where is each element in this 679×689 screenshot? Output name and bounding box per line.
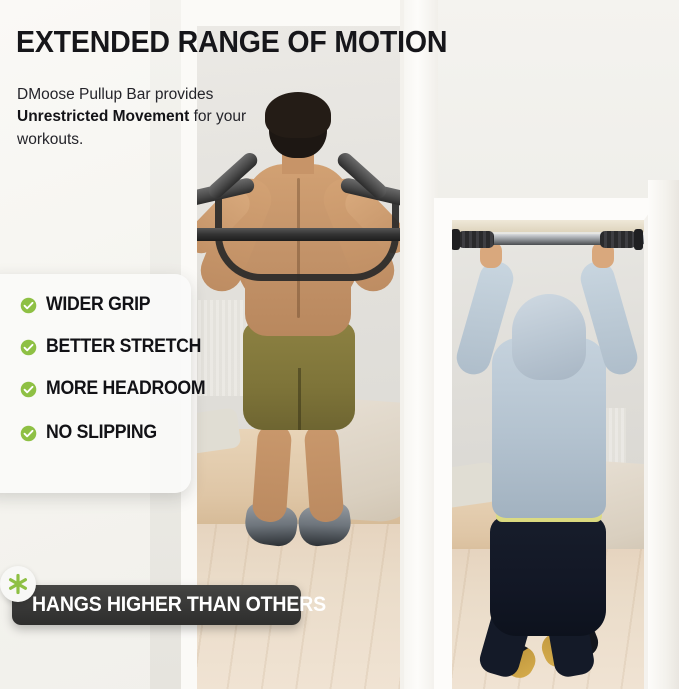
bottom-claim-banner: HANGS HIGHER THAN OTHERS <box>12 585 301 625</box>
subtitle-emphasis: Unrestricted Movement <box>17 108 189 125</box>
asterisk-icon <box>6 572 30 596</box>
product-infographic: EXTENDED RANGE OF MOTION DMoose Pullup B… <box>0 0 679 689</box>
feature-label: WIDER GRIP <box>46 294 150 316</box>
banner-label: HANGS HIGHER THAN OTHERS <box>32 593 326 617</box>
photo-right-panel <box>434 198 660 689</box>
subtitle-lead: DMoose Pullup Bar provides <box>17 86 213 103</box>
feature-label: NO SLIPPING <box>46 422 157 444</box>
feature-item-more-headroom: MORE HEADROOM <box>20 378 217 400</box>
subtitle-copy: DMoose Pullup Bar provides Unrestricted … <box>17 84 247 151</box>
check-circle-icon <box>20 297 37 314</box>
feature-item-wider-grip: WIDER GRIP <box>20 294 158 316</box>
check-circle-icon <box>20 339 37 356</box>
check-circle-icon <box>20 425 37 442</box>
feature-list-card: WIDER GRIP BETTER STRETCH MORE HEADROOM … <box>0 274 191 493</box>
feature-label: BETTER STRETCH <box>46 336 201 358</box>
feature-item-no-slipping: NO SLIPPING <box>20 422 165 444</box>
feature-label: MORE HEADROOM <box>46 378 205 400</box>
right-door-frame <box>434 198 660 689</box>
page-title: EXTENDED RANGE OF MOTION <box>16 26 447 58</box>
check-circle-icon <box>20 381 37 398</box>
panel-divider <box>404 0 438 689</box>
outer-wall-frame <box>648 180 679 689</box>
asterisk-badge <box>0 566 36 602</box>
feature-item-better-stretch: BETTER STRETCH <box>20 336 213 358</box>
